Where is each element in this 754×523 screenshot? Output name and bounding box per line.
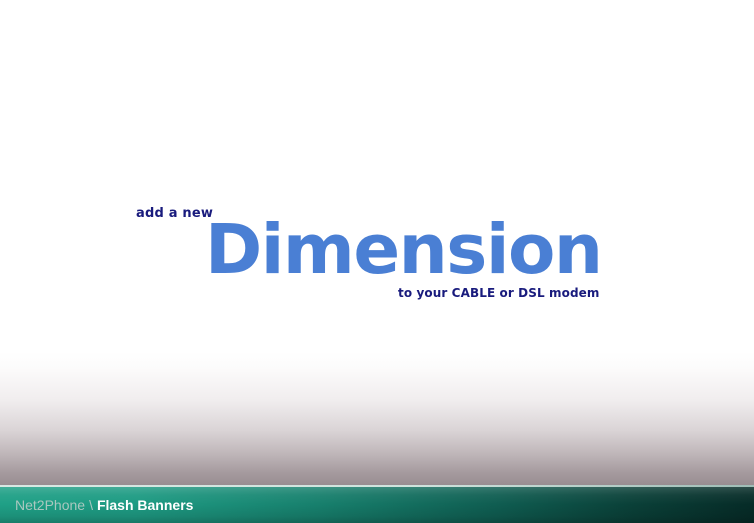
stage-floor-gradient	[0, 352, 754, 487]
breadcrumb-item-flash-banners[interactable]: Flash Banners	[97, 497, 193, 513]
breadcrumb-item-net2phone[interactable]: Net2Phone	[15, 497, 85, 513]
breadcrumb: Net2Phone \ Flash Banners	[15, 487, 193, 523]
status-bar: Net2Phone \ Flash Banners	[0, 487, 754, 523]
breadcrumb-separator: \	[85, 497, 97, 513]
app-window: add a new Dimension to your CABLE or DSL…	[0, 0, 754, 523]
banner-stage	[0, 0, 754, 487]
